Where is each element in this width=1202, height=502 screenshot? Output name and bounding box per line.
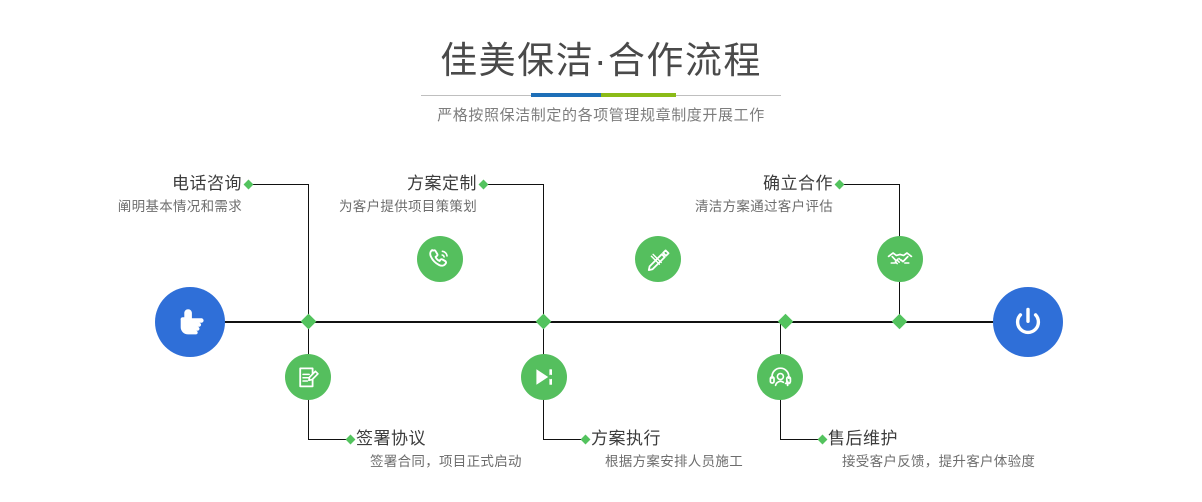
step-icon-3[interactable] [635, 236, 681, 282]
play-execute-icon [531, 364, 557, 390]
step-title-1: 电话咨询 [90, 172, 242, 196]
step-icon-5[interactable] [877, 236, 923, 282]
step-desc-1: 阐明基本情况和需求 [90, 196, 242, 218]
step-desc-3: 为客户提供项目策策划 [320, 196, 477, 218]
power-icon [1008, 302, 1048, 342]
phone-call-icon [426, 245, 454, 273]
step-icon-1[interactable] [417, 236, 463, 282]
pointing-hand-icon [170, 302, 210, 342]
axis-marker-6 [892, 314, 908, 330]
connector-vline-1 [308, 184, 309, 322]
step-title-4: 方案执行 [591, 427, 743, 451]
step-label-2: 签署协议 签署合同，项目正式启动 [356, 427, 522, 473]
step-title-2: 签署协议 [356, 427, 522, 451]
step-title-6: 售后维护 [828, 427, 1035, 451]
title-divider [421, 93, 781, 97]
design-pencil-icon [645, 246, 672, 273]
label-marker-3 [479, 180, 489, 190]
step-label-1: 电话咨询 阐明基本情况和需求 [90, 172, 242, 218]
sign-document-icon [295, 364, 322, 391]
connector-hline-6 [780, 439, 822, 440]
connector-hline-2 [308, 439, 350, 440]
divider-segment-blue [531, 93, 601, 97]
label-marker-2 [346, 435, 356, 445]
step-label-4: 方案执行 根据方案安排人员施工 [591, 427, 743, 473]
step-desc-6: 接受客户反馈，提升客户体验度 [828, 451, 1035, 473]
connector-hline-1 [249, 184, 309, 185]
step-label-5: 确立合作 清洁方案通过客户评估 [672, 172, 833, 218]
step-icon-6[interactable] [757, 354, 803, 400]
headset-support-icon [767, 364, 794, 391]
step-icon-4[interactable] [521, 354, 567, 400]
flow-start-node[interactable] [155, 287, 225, 357]
step-desc-4: 根据方案安排人员施工 [591, 451, 743, 473]
connector-hline-5 [840, 184, 900, 185]
page-title: 佳美保洁·合作流程 [0, 38, 1202, 84]
page-subtitle: 严格按照保洁制定的各项管理规章制度开展工作 [0, 105, 1202, 127]
axis-marker-2 [301, 314, 317, 330]
label-marker-6 [818, 435, 828, 445]
label-marker-1 [244, 180, 254, 190]
connector-hline-3 [484, 184, 544, 185]
label-marker-5 [835, 180, 845, 190]
step-desc-2: 签署合同，项目正式启动 [356, 451, 522, 473]
step-icon-2[interactable] [285, 354, 331, 400]
handshake-icon [886, 245, 914, 273]
label-marker-4 [581, 435, 591, 445]
divider-segment-green [601, 93, 676, 97]
page-header: 佳美保洁·合作流程 严格按照保洁制定的各项管理规章制度开展工作 [0, 0, 1202, 150]
step-title-5: 确立合作 [672, 172, 833, 196]
axis-marker-4 [536, 314, 552, 330]
step-title-3: 方案定制 [320, 172, 477, 196]
flow-end-node[interactable] [993, 287, 1063, 357]
step-desc-5: 清洁方案通过客户评估 [672, 196, 833, 218]
step-label-3: 方案定制 为客户提供项目策策划 [320, 172, 477, 218]
connector-vline-3 [543, 184, 544, 322]
process-flow-diagram: 电话咨询 阐明基本情况和需求 签署协议 签署合同，项目正式启动 [0, 150, 1202, 502]
step-label-6: 售后维护 接受客户反馈，提升客户体验度 [828, 427, 1035, 473]
connector-hline-4 [543, 439, 585, 440]
